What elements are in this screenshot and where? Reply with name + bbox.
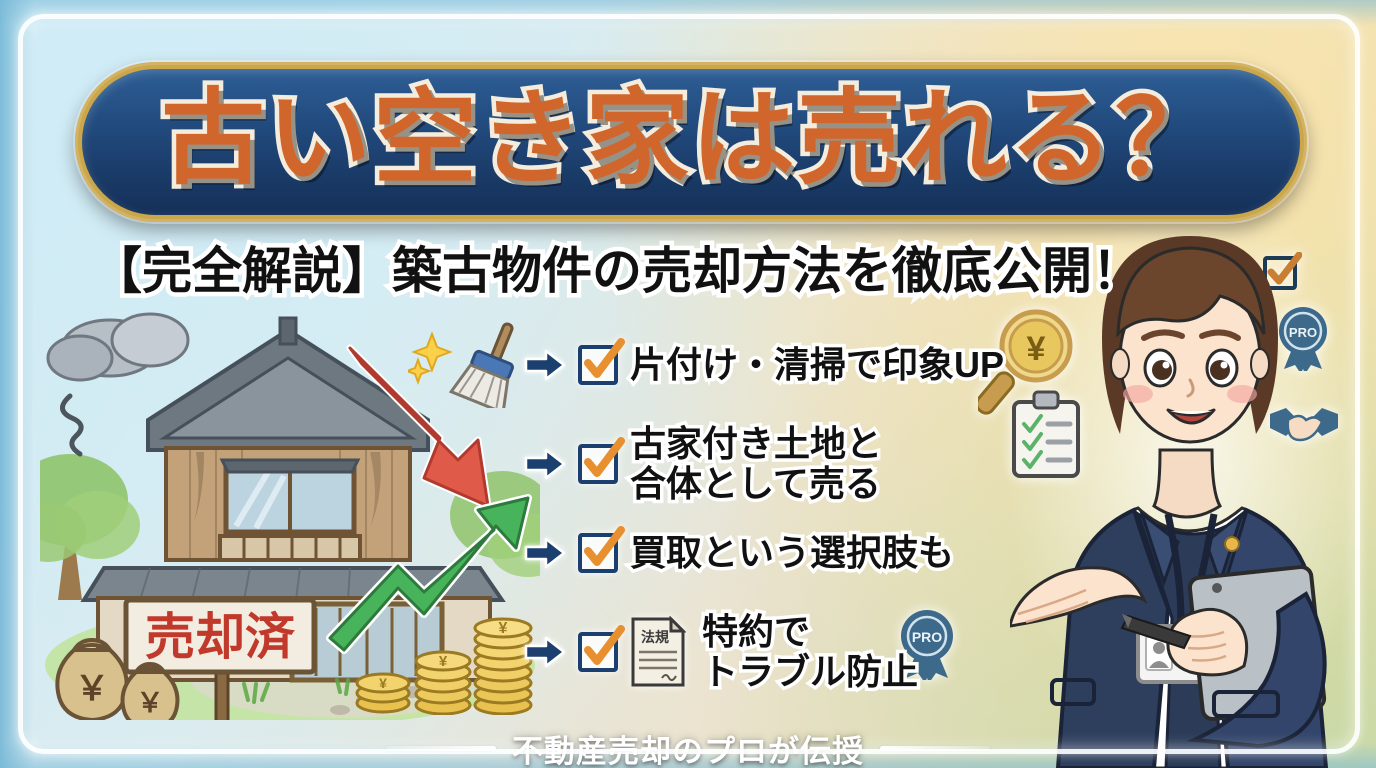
coin-stack-icon: ¥: [416, 652, 470, 714]
legal-document-label: 法規: [641, 629, 669, 645]
coin-stacks: ¥ ¥ ¥: [355, 595, 535, 715]
svg-text:￥: ￥: [75, 670, 109, 708]
infographic-canvas: 売却済 ￥ ￥: [0, 0, 1376, 768]
svg-text:￥: ￥: [137, 688, 164, 718]
bullet-label-4: 特約で トラブル防止: [702, 612, 918, 693]
bullet-label-3: 買取という選択肢も: [630, 533, 954, 573]
svg-text:¥: ¥: [439, 653, 448, 670]
bullet-item-3: 買取という選択肢も: [524, 533, 954, 573]
real-estate-agent-illustration: [1010, 222, 1370, 768]
subtitle-text: 【完全解説】築古物件の売却方法を徹底公開！: [92, 246, 1142, 296]
footer-rule-left: [386, 746, 496, 751]
checkbox-checked-icon: [578, 444, 618, 484]
checkbox-checked-icon: [578, 533, 618, 573]
bullet-label-1: 片付け・清掃で印象UP: [630, 345, 1004, 385]
arrow-right-icon: [524, 536, 566, 570]
svg-text:¥: ¥: [499, 620, 508, 637]
sold-sign-label: 売却済: [145, 609, 296, 665]
arrow-right-icon: [524, 348, 566, 382]
checkbox-checked-icon: [578, 345, 618, 385]
coin-stack-icon: ¥: [357, 674, 409, 712]
checkbox-checked-icon: [578, 632, 618, 672]
bullet-item-1: 片付け・清掃で印象UP: [524, 345, 1004, 385]
page-title: 古い空き家は売れる？: [161, 87, 1221, 191]
bullet-item-2: 古家付き土地と 合体として売る: [524, 424, 882, 505]
legal-document-icon: 法規: [630, 616, 686, 688]
bullet-label-2-line1: 古家付き土地と: [630, 423, 882, 464]
footer-rule-right: [880, 746, 990, 751]
subtitle: 【完全解説】築古物件の売却方法を徹底公開！: [92, 240, 1112, 302]
svg-text:¥: ¥: [379, 675, 387, 691]
broom-icon: [408, 318, 528, 408]
bullet-label-4-line2: トラブル防止: [702, 652, 918, 692]
arrow-right-icon: [524, 447, 566, 481]
footer-text: 不動産売却のプロが伝授: [512, 726, 864, 768]
arrow-right-icon: [524, 635, 566, 669]
bullet-label-4-line1: 特約で: [702, 611, 810, 652]
title-banner: 古い空き家は売れる？: [75, 62, 1307, 222]
bullet-label-2: 古家付き土地と 合体として売る: [630, 424, 882, 505]
bullet-label-2-line2: 合体として売る: [630, 464, 882, 504]
footer: 不動産売却のプロが伝授: [0, 726, 1376, 768]
coin-stack-icon: ¥: [475, 619, 531, 714]
bullet-item-4: 法規 特約で トラブル防止: [524, 612, 918, 693]
sparkle-icon: [408, 334, 450, 382]
